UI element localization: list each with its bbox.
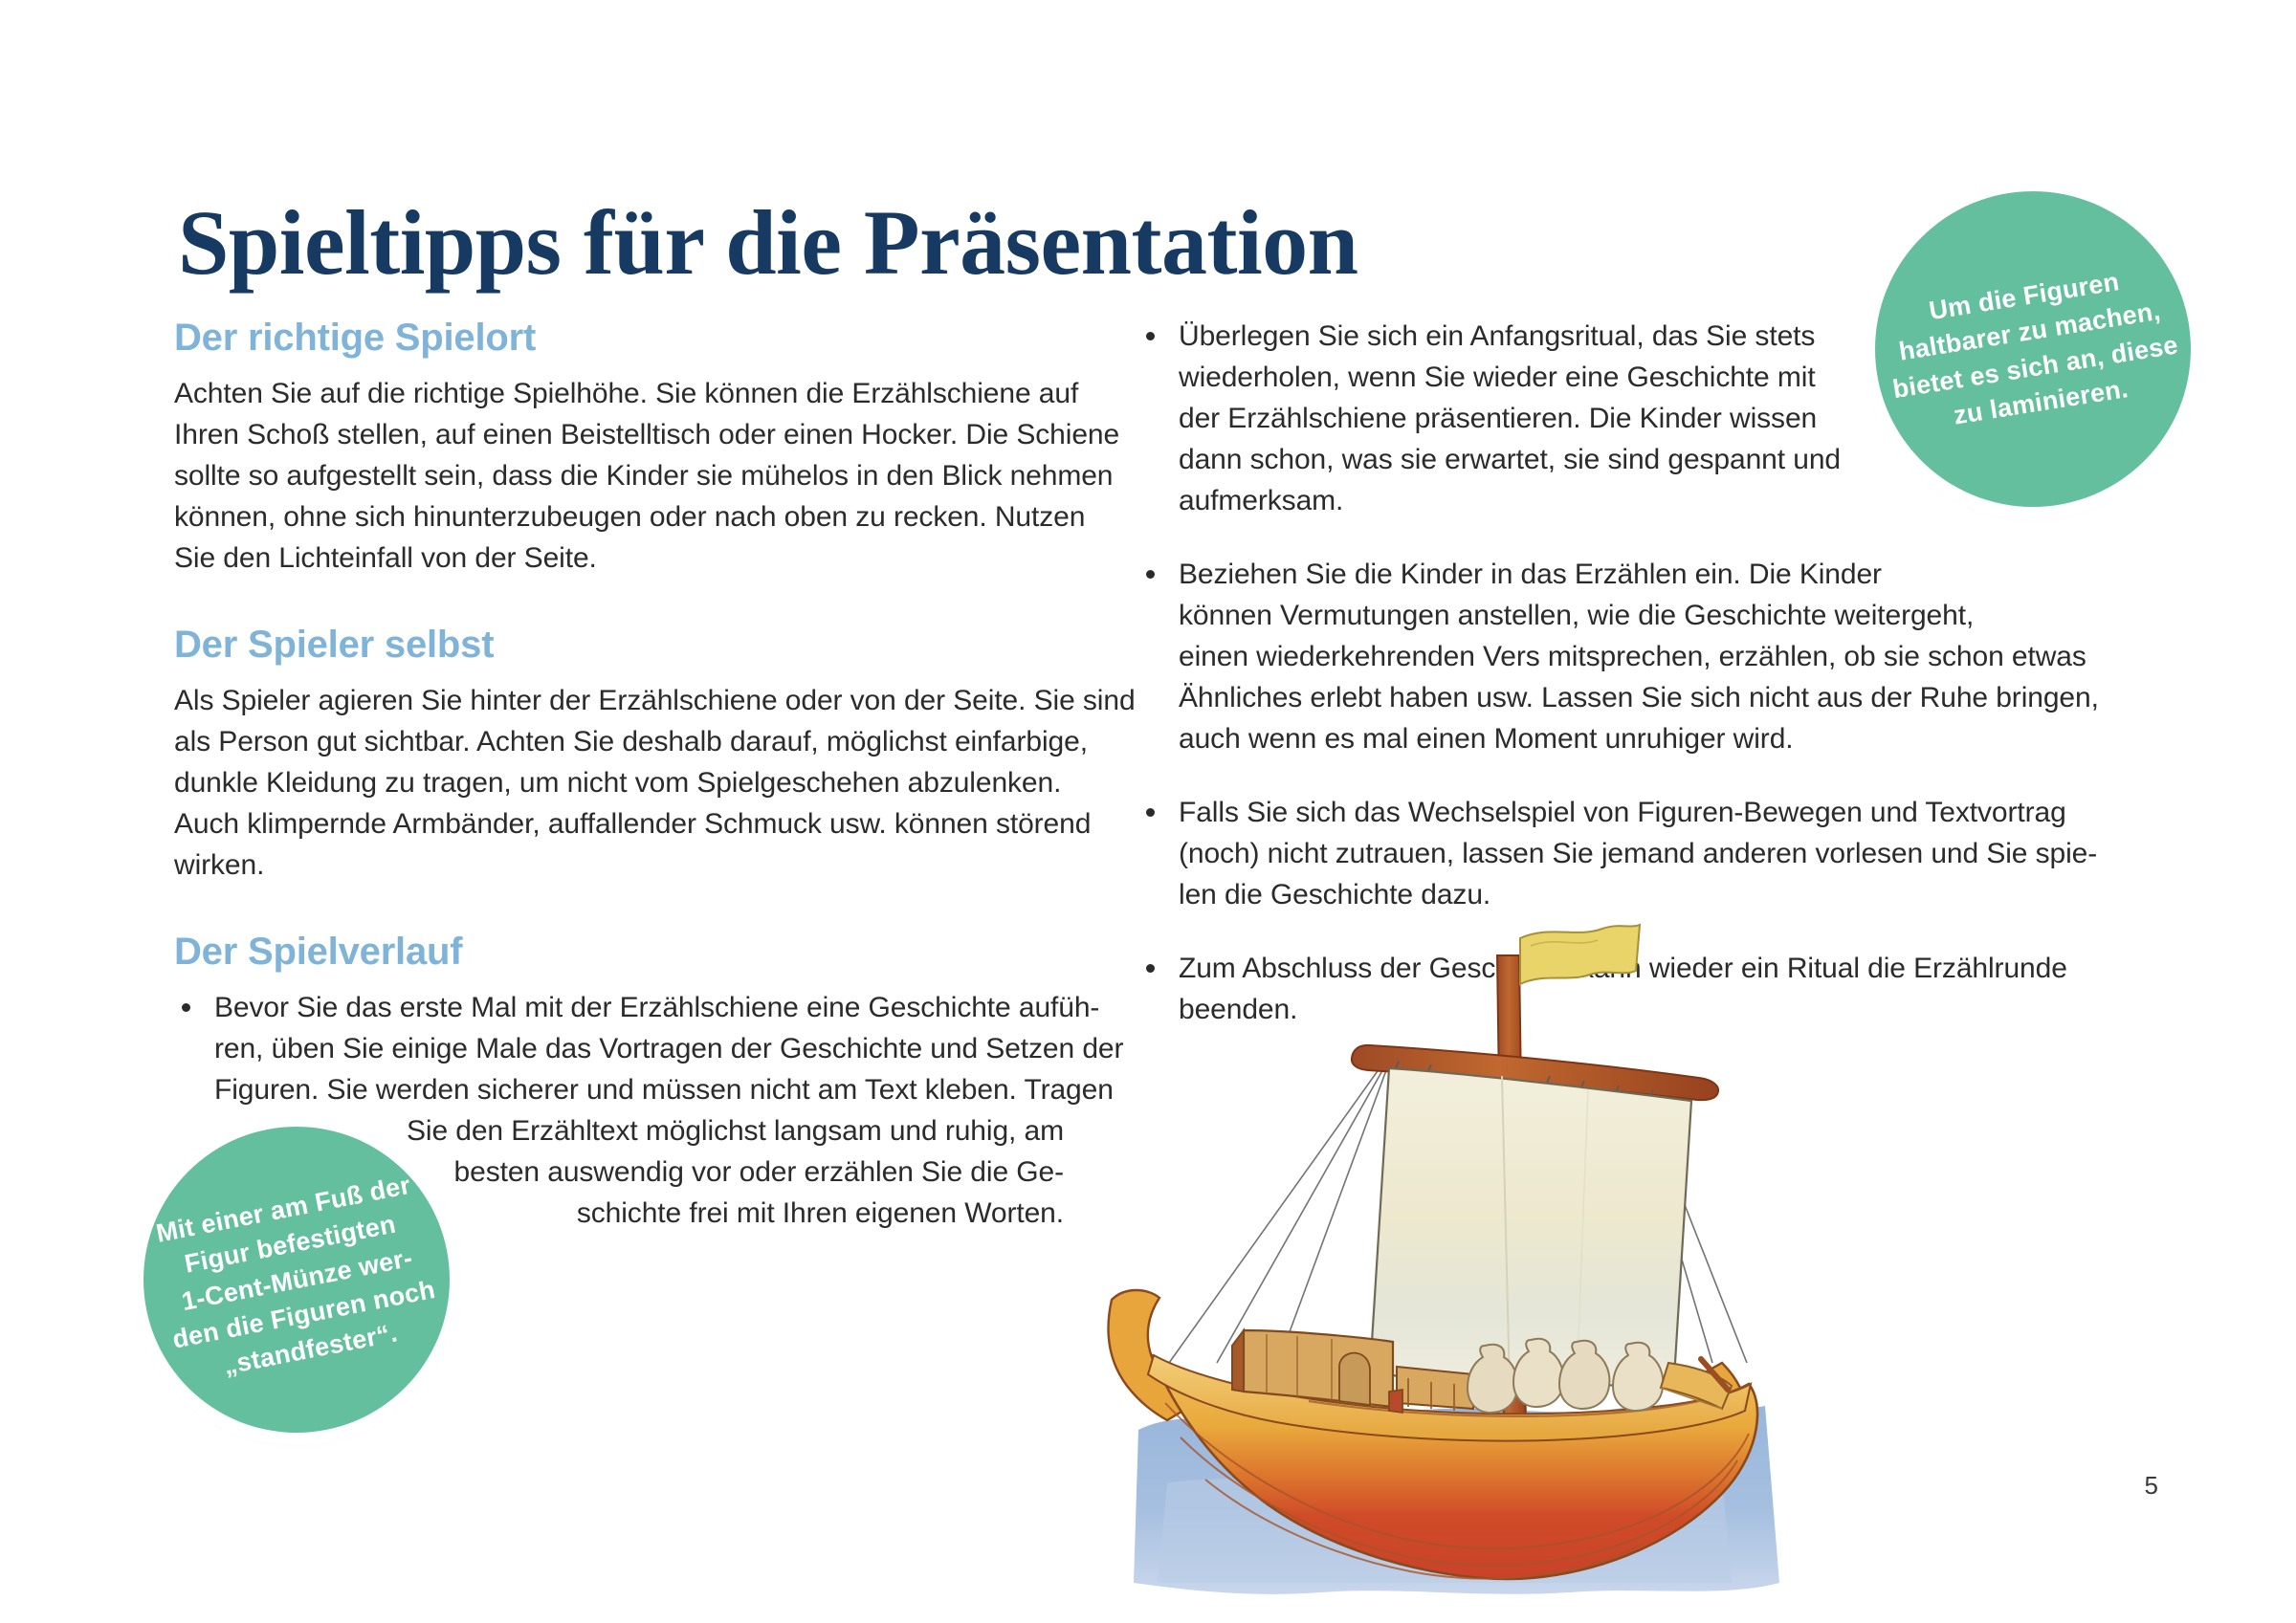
list-item: Falls Sie sich das Wechselspiel von Figu… bbox=[1138, 792, 2095, 915]
text-line: wirken. bbox=[174, 844, 1064, 886]
left-column: Der richtige Spielort Achten Sie auf die… bbox=[174, 316, 1064, 1234]
text-line: Ähnliches erlebt haben usw. Lassen Sie s… bbox=[1179, 677, 2095, 718]
deck-railing bbox=[1389, 1367, 1473, 1413]
text-line: sollte so aufgestellt sein, dass die Kin… bbox=[174, 455, 1064, 496]
text-line: als Person gut sichtbar. Achten Sie desh… bbox=[174, 721, 1064, 762]
bullet-dot-icon bbox=[182, 1003, 190, 1012]
section-heading: Der Spielverlauf bbox=[174, 930, 1064, 974]
section-heading: Der Spieler selbst bbox=[174, 623, 1064, 667]
page-number: 5 bbox=[2145, 1471, 2158, 1501]
tip-badge-text: Mit einer am Fuß der Figur befestigten 1… bbox=[128, 1163, 466, 1396]
text-line: einen wiederkehrenden Vers mitsprechen, … bbox=[1179, 636, 2095, 677]
bullet-dot-icon bbox=[1146, 332, 1155, 340]
bullet-dot-icon bbox=[1146, 808, 1155, 817]
section-paragraph: Achten Sie auf die richtige Spielhöhe. S… bbox=[174, 373, 1064, 579]
section-heading: Der richtige Spielort bbox=[174, 316, 1064, 360]
bullet-dot-icon bbox=[1146, 570, 1155, 579]
text-line: Beziehen Sie die Kinder in das Erzählen … bbox=[1179, 554, 2095, 595]
flag-pennant bbox=[1520, 925, 1640, 984]
text-line: (noch) nicht zutrauen, lassen Sie jemand… bbox=[1179, 833, 2095, 874]
tip-badge-coin: Mit einer am Fuß der Figur befestigten 1… bbox=[143, 1127, 450, 1433]
section-der-richtige-spielort: Der richtige Spielort Achten Sie auf die… bbox=[174, 316, 1064, 579]
text-line: ren, üben Sie einige Male das Vortragen … bbox=[214, 1028, 1064, 1069]
text-line: Ihren Schoß stellen, auf einen Beistellt… bbox=[174, 414, 1064, 455]
text-line: Falls Sie sich das Wechselspiel von Figu… bbox=[1179, 792, 2095, 833]
text-line: Sie den Lichteinfall von der Seite. bbox=[174, 537, 1064, 579]
text-line: Als Spieler agieren Sie hinter der Erzäh… bbox=[174, 680, 1064, 721]
text-line: Figuren. Sie werden sicherer und müssen … bbox=[214, 1069, 1064, 1110]
text-line: len die Geschichte dazu. bbox=[1179, 874, 2095, 915]
sailing-ship-illustration bbox=[1052, 913, 1837, 1621]
text-line: Auch klimpernde Armbänder, auffallender … bbox=[174, 803, 1064, 844]
tip-badge-laminate: Um die Figuren haltbarer zu machen, biet… bbox=[1875, 191, 2191, 507]
page-title: Spieltipps für die Präsentation bbox=[178, 195, 1358, 292]
text-line: können Vermutungen anstellen, wie die Ge… bbox=[1179, 595, 2095, 636]
text-line: Achten Sie auf die richtige Spielhöhe. S… bbox=[174, 373, 1064, 414]
text-line: können, ohne sich hinunterzubeugen oder … bbox=[174, 496, 1064, 537]
tip-badge-text: Um die Figuren haltbarer zu machen, biet… bbox=[1859, 252, 2207, 445]
document-page: Spieltipps für die Präsentation Der rich… bbox=[0, 0, 2296, 1623]
text-line: dunkle Kleidung zu tragen, um nicht vom … bbox=[174, 762, 1064, 803]
list-item: Beziehen Sie die Kinder in das Erzählen … bbox=[1138, 554, 2095, 759]
section-der-spieler-selbst: Der Spieler selbst Als Spieler agieren S… bbox=[174, 623, 1064, 886]
text-line: auch wenn es mal einen Moment unruhiger … bbox=[1179, 718, 2095, 759]
text-line: Bevor Sie das erste Mal mit der Erzählsc… bbox=[214, 987, 1064, 1028]
section-paragraph: Als Spieler agieren Sie hinter der Erzäh… bbox=[174, 680, 1064, 886]
